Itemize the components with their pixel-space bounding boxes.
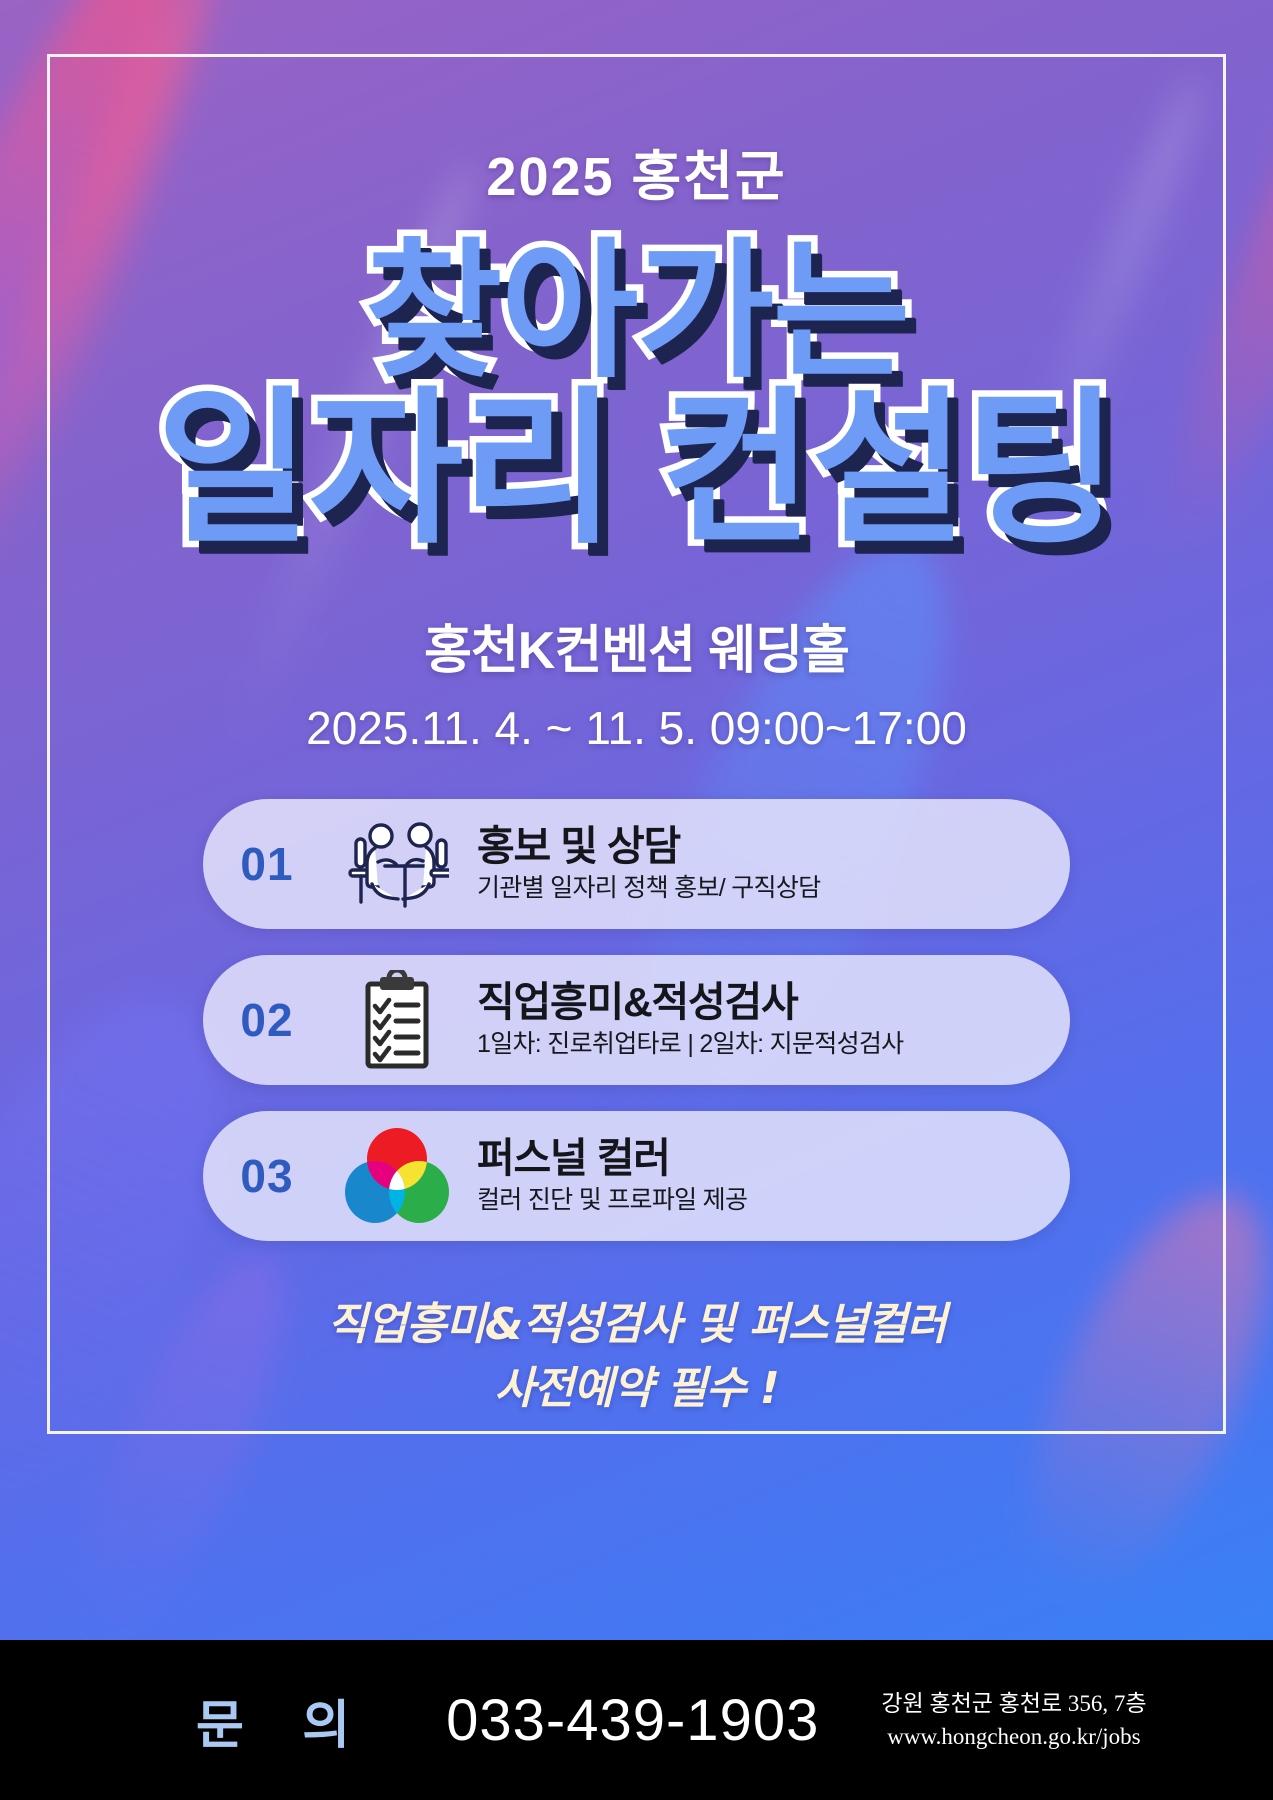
program-card[interactable]: 02 xyxy=(203,955,1070,1085)
office-address: 강원 홍천군 홍천로 356, 7층 xyxy=(881,1687,1146,1720)
contact-address-block: 강원 홍천군 홍천로 356, 7층 www.hongcheon.go.kr/j… xyxy=(881,1687,1146,1754)
footer-bar: 문 의 033-439-1903 강원 홍천군 홍천로 356, 7층 www.… xyxy=(0,1640,1273,1800)
date-range: 2025.11. 4. ~ 11. 5. 09:00~17:00 xyxy=(0,701,1273,755)
program-text: 홍보 및 상담 기관별 일자리 정책 홍보/ 구직상담 xyxy=(463,824,1070,904)
program-subtitle: 기관별 일자리 정책 홍보/ 구직상담 xyxy=(477,873,1070,904)
poster-content: 2025 홍천군 찾아가는 일자리 컨설팅 홍천K컨벤션 웨딩홀 2025.11… xyxy=(0,0,1273,1421)
program-list: 01 xyxy=(0,799,1273,1241)
notice-line-2: 사전예약 필수 ! xyxy=(0,1357,1273,1421)
notice-line-1: 직업흥미&적성검사 및 퍼스널컬러 xyxy=(0,1293,1273,1357)
poster-eyebrow: 2025 홍천군 xyxy=(0,132,1273,211)
poster-root: 2025 홍천군 찾아가는 일자리 컨설팅 홍천K컨벤션 웨딩홀 2025.11… xyxy=(0,0,1273,1800)
program-title: 퍼스널 컬러 xyxy=(477,1136,1070,1182)
program-text: 퍼스널 컬러 컬러 진단 및 프로파일 제공 xyxy=(463,1136,1070,1216)
program-title: 직업흥미&적성검사 xyxy=(477,980,1070,1026)
program-subtitle: 1일차: 진로취업타로 | 2일차: 지문적성검사 xyxy=(477,1029,1070,1060)
page-title: 찾아가는 일자리 컨설팅 xyxy=(0,239,1273,550)
program-text: 직업흥미&적성검사 1일차: 진로취업타로 | 2일차: 지문적성검사 xyxy=(463,980,1070,1060)
program-number: 01 xyxy=(203,837,331,891)
consultation-meeting-icon xyxy=(331,818,463,910)
program-number: 03 xyxy=(203,1149,331,1203)
contact-label: 문 의 xyxy=(196,1683,372,1758)
contact-phone[interactable]: 033-439-1903 xyxy=(446,1687,819,1754)
venue-name: 홍천K컨벤션 웨딩홀 xyxy=(0,608,1273,683)
clipboard-checklist-icon xyxy=(331,970,463,1070)
headline-line-2: 일자리 컨설팅 xyxy=(0,389,1273,550)
program-card[interactable]: 01 xyxy=(203,799,1070,929)
color-venn-circles-icon xyxy=(331,1126,463,1226)
program-number: 02 xyxy=(203,993,331,1047)
program-card[interactable]: 03 xyxy=(203,1111,1070,1241)
headline-line-1: 찾아가는 xyxy=(0,239,1273,383)
reservation-notice: 직업흥미&적성검사 및 퍼스널컬러 사전예약 필수 ! xyxy=(0,1293,1273,1421)
program-title: 홍보 및 상담 xyxy=(477,824,1070,870)
website-url[interactable]: www.hongcheon.go.kr/jobs xyxy=(881,1720,1146,1753)
program-subtitle: 컬러 진단 및 프로파일 제공 xyxy=(477,1185,1070,1216)
